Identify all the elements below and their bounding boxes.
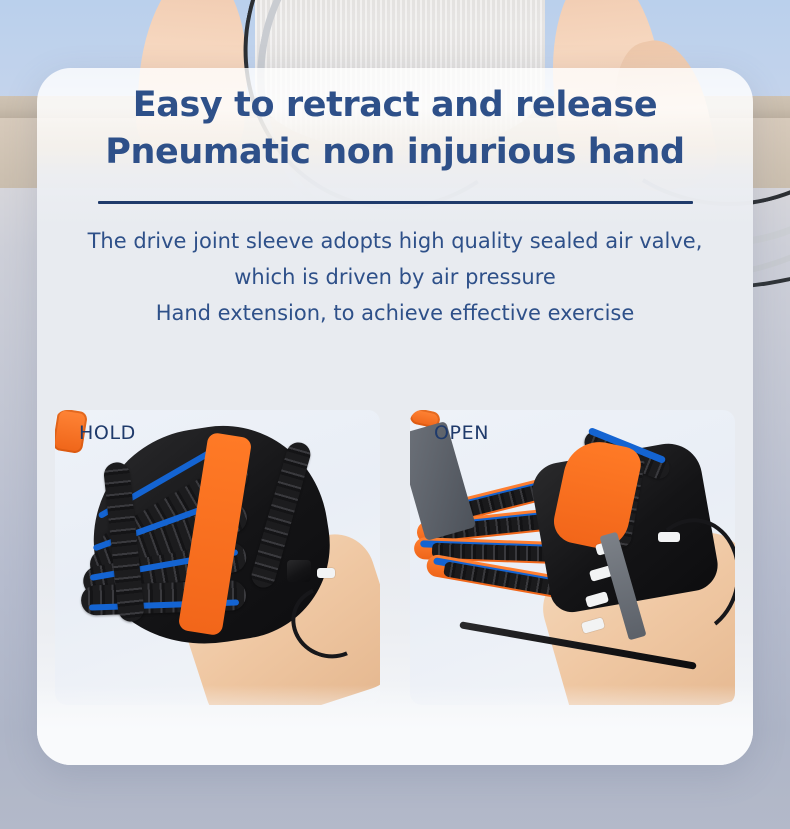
content-card: Easy to retract and release Pneumatic no… bbox=[37, 68, 753, 765]
panel-label-hold: HOLD bbox=[79, 422, 136, 444]
screenshot-root: Easy to retract and release Pneumatic no… bbox=[0, 0, 790, 829]
description-line-1: The drive joint sleeve adopts high quali… bbox=[37, 223, 753, 259]
description-line-3: Hand extension, to achieve effective exe… bbox=[37, 295, 753, 331]
hold-white-clip bbox=[317, 568, 335, 578]
photo-panel-hold: HOLD bbox=[55, 410, 380, 705]
headline-line-1: Easy to retract and release bbox=[133, 85, 658, 125]
open-tube-connector bbox=[658, 532, 680, 542]
description-text: The drive joint sleeve adopts high quali… bbox=[37, 204, 753, 331]
photo-panel-row: HOLD bbox=[55, 410, 735, 705]
headline-line-2: Pneumatic non injurious hand bbox=[37, 129, 753, 176]
description-line-2: which is driven by air pressure bbox=[37, 259, 753, 295]
photo-panel-open: OPEN bbox=[410, 410, 735, 705]
hold-wrist-buckle bbox=[287, 560, 311, 582]
panel-label-open: OPEN bbox=[434, 422, 489, 444]
page-title: Easy to retract and release Pneumatic no… bbox=[37, 68, 753, 176]
